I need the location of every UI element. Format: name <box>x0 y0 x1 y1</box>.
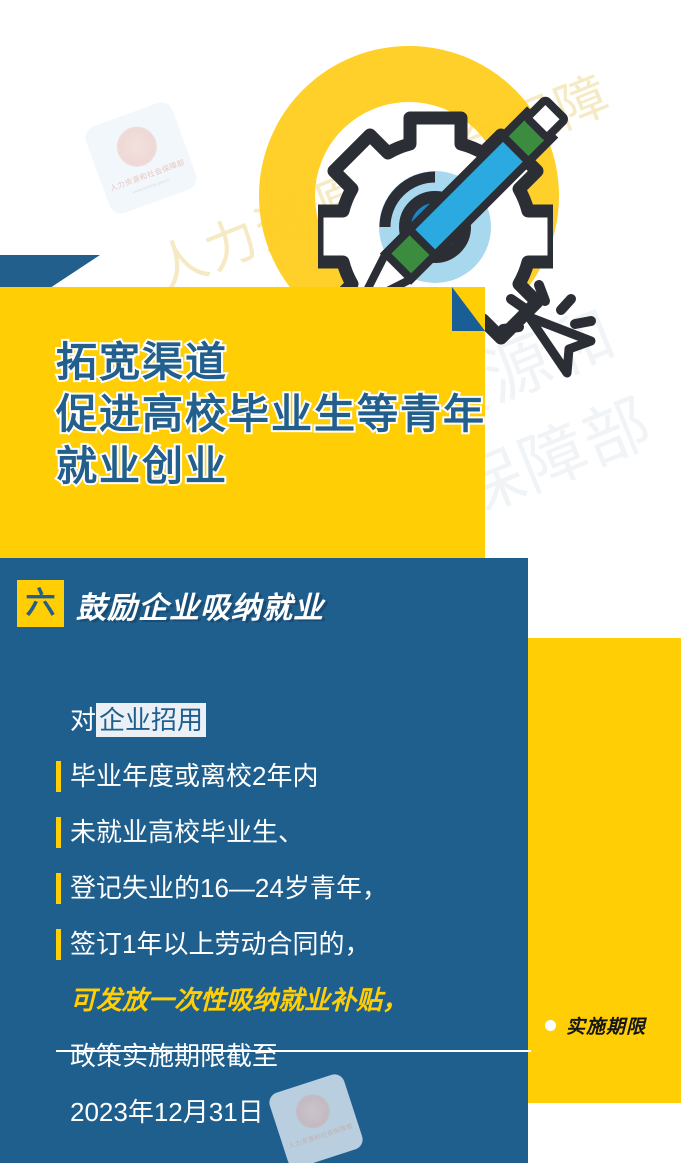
watermark-logo-top: 人力资源和社会保障部 www.mohrss.gov.cn <box>82 99 200 217</box>
body-line: 签订1年以上劳动合同的， <box>56 916 476 972</box>
watermark-logo-caption: 人力资源和社会保障部 <box>108 157 186 194</box>
emblem-icon <box>111 121 162 172</box>
body-line-accent: 可发放一次性吸纳就业补贴， <box>56 972 476 1028</box>
body-line: 毕业年度或离校2年内 <box>56 748 476 804</box>
title-line-2: 促进高校毕业生等青年 <box>56 388 486 440</box>
title-line-3: 就业创业 <box>56 440 486 492</box>
body-line-highlight: 企业招用 <box>96 703 206 737</box>
body-line: 登记失业的16—24岁青年， <box>56 860 476 916</box>
divider <box>56 1050 531 1052</box>
cursor-icon <box>495 277 605 387</box>
body-line: 政策实施期限截至 <box>56 1028 476 1084</box>
bullet-dot-icon <box>545 1020 556 1031</box>
section-heading: 鼓励企业吸纳就业 <box>76 583 324 627</box>
body-line: 2023年12月31日 <box>56 1084 476 1140</box>
status-badge: 实施期限 <box>545 1012 646 1039</box>
title-line-1: 拓宽渠道 <box>56 336 486 388</box>
body-line-prefix: 对 <box>70 705 96 735</box>
watermark-logo-url: www.mohrss.gov.cn <box>132 177 171 195</box>
page-title: 拓宽渠道 促进高校毕业生等青年 就业创业 <box>56 336 486 492</box>
section-number-badge: 六 <box>17 580 64 627</box>
body-line: 对企业招用 <box>56 692 476 748</box>
body-line: 未就业高校毕业生、 <box>56 804 476 860</box>
infographic-poster: 人力资源和社会保障部 www.mohrss.gov.cn 人力资源和社会保障部 … <box>0 0 681 1163</box>
body-text: 对企业招用 毕业年度或离校2年内 未就业高校毕业生、 登记失业的16—24岁青年… <box>56 692 476 1140</box>
status-badge-label: 实施期限 <box>566 1012 646 1039</box>
